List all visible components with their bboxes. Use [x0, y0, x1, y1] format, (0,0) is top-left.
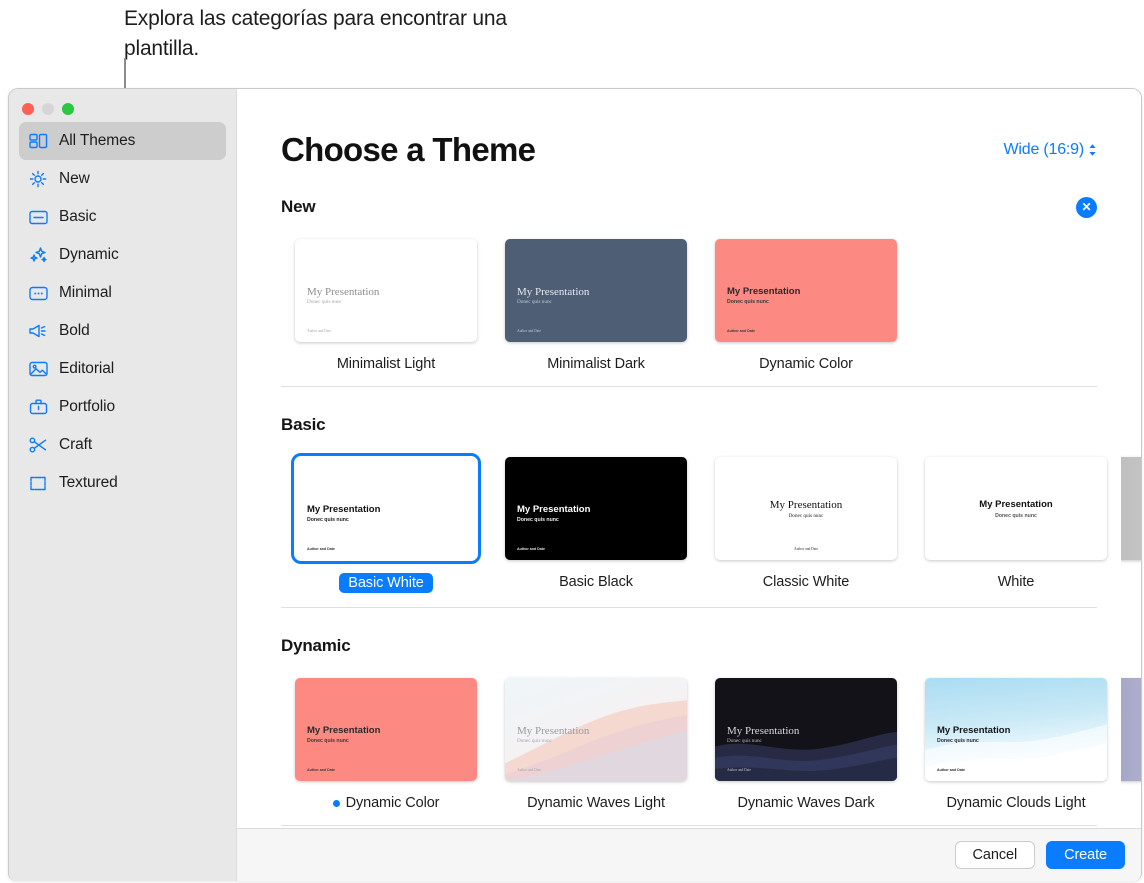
thumbnail-canvas: My PresentationDonec quis nunc	[925, 457, 1107, 560]
theme-tile[interactable]: My PresentationDonec quis nuncWhite	[911, 453, 1121, 593]
cancel-button[interactable]: Cancel	[955, 841, 1036, 869]
thumbnail-title: My Presentation	[517, 504, 590, 515]
thumbnail-canvas: My PresentationDonec quis nuncAuthor and…	[715, 239, 897, 342]
thumbnail-canvas: My PresentationDonec quis nuncAuthor and…	[715, 457, 897, 560]
zoom-window-button[interactable]	[62, 103, 74, 115]
theme-tile[interactable]: My PresentationDonec quis nuncAuthor and…	[701, 235, 911, 372]
page-title: Choose a Theme	[281, 131, 535, 169]
thumbnail-canvas: My PresentationDonec quis nuncAuthor and…	[505, 457, 687, 560]
thumbnail-footer: Author and Date	[715, 547, 897, 551]
section-header: Dynamic	[281, 624, 1097, 668]
thumbnail-footer: Author and Date	[517, 547, 545, 551]
theme-name-label: Dynamic Color	[759, 356, 853, 372]
theme-scroll-area[interactable]: Choose a Theme Wide (16:9) New✕My Presen…	[237, 89, 1141, 829]
theme-thumbnail[interactable]: My PresentationDonec quis nuncAuthor and…	[501, 453, 691, 564]
thumbnail-title: My Presentation	[937, 725, 1010, 736]
crop-frame-icon	[27, 473, 49, 493]
theme-grid: My PresentationDonec quis nuncAuthor and…	[281, 668, 1097, 811]
sidebar-item-label: New	[59, 170, 90, 188]
thumbnail-subtitle: Donec quis nunc	[517, 738, 552, 744]
thumbnail-subtitle: Donec quis nunc	[727, 299, 769, 305]
theme-thumbnail[interactable]: My PresentationDonec quis nuncAuthor and…	[711, 453, 901, 564]
sidebar-item-textured[interactable]: Textured	[19, 464, 226, 502]
sidebar-item-portfolio[interactable]: Portfolio	[19, 388, 226, 426]
theme-thumbnail[interactable]: My PresentationDonec quis nuncAuthor and…	[291, 453, 481, 564]
thumbnail-subtitle: Donec quis nunc	[727, 738, 762, 744]
thumbnail-canvas: My PresentationDonec quis nuncAuthor and…	[925, 678, 1107, 781]
theme-thumbnail[interactable]	[1121, 453, 1141, 564]
sidebar-category-list: All ThemesNewBasicDynamicMinimalBoldEdit…	[9, 122, 236, 502]
theme-name-text: Minimalist Light	[337, 356, 435, 372]
theme-thumbnail[interactable]: My PresentationDonec quis nuncAuthor and…	[501, 674, 691, 785]
theme-name-label: Dynamic Clouds Light	[946, 795, 1085, 811]
thumbnail-footer: Author and Date	[937, 768, 965, 772]
theme-name-label: Dynamic Waves Light	[527, 795, 665, 811]
thumbnail-title: My Presentation	[715, 499, 897, 511]
scissors-icon	[27, 435, 49, 455]
theme-grid: My PresentationDonec quis nuncAuthor and…	[281, 229, 1097, 372]
sidebar-item-label: Portfolio	[59, 398, 115, 416]
thumbnail-title: My Presentation	[517, 725, 589, 737]
theme-name-label: Minimalist Dark	[547, 356, 645, 372]
sidebar-item-label: All Themes	[59, 132, 135, 150]
theme-grid: My PresentationDonec quis nuncAuthor and…	[281, 447, 1097, 593]
sidebar-item-new[interactable]: New	[19, 160, 226, 198]
create-button[interactable]: Create	[1046, 841, 1125, 869]
sidebar-item-label: Dynamic	[59, 246, 119, 264]
close-section-icon[interactable]: ✕	[1076, 197, 1097, 218]
theme-tile[interactable]: My PresentationDonec quis nuncAuthor and…	[281, 674, 491, 811]
theme-thumbnail[interactable]: My PresentationDonec quis nuncAuthor and…	[711, 235, 901, 346]
thumbnail-canvas	[1121, 678, 1141, 781]
theme-thumbnail[interactable]: My PresentationDonec quis nuncAuthor and…	[711, 674, 901, 785]
thumbnail-subtitle: Donec quis nunc	[517, 299, 552, 305]
callout-text: Explora las categorías para encontrar un…	[124, 4, 544, 64]
grid-themes-icon	[27, 131, 49, 151]
theme-name-label: Basic White	[339, 573, 432, 593]
sidebar-item-editorial[interactable]: Editorial	[19, 350, 226, 388]
theme-tile-partial[interactable]	[1121, 674, 1141, 811]
theme-name-label: Minimalist Light	[337, 356, 435, 372]
section-divider	[281, 386, 1097, 387]
aspect-ratio-label: Wide (16:9)	[1004, 141, 1085, 159]
thumbnail-footer: Author and Date	[307, 768, 335, 772]
thumbnail-footer: Author and Date	[727, 768, 751, 772]
section-divider	[281, 607, 1097, 608]
sidebar-item-label: Basic	[59, 208, 96, 226]
sparkle-burst-icon	[27, 169, 49, 189]
thumbnail-title: My Presentation	[517, 286, 589, 298]
sidebar-item-label: Minimal	[59, 284, 112, 302]
aspect-ratio-popup-button[interactable]: Wide (16:9)	[1004, 141, 1098, 159]
main-content: Choose a Theme Wide (16:9) New✕My Presen…	[237, 89, 1141, 881]
thumbnail-footer: Author and Date	[307, 329, 331, 333]
sidebar-item-basic[interactable]: Basic	[19, 198, 226, 236]
thumbnail-canvas: My PresentationDonec quis nuncAuthor and…	[505, 239, 687, 342]
thumbnail-subtitle: Donec quis nunc	[307, 299, 342, 305]
sidebar-item-label: Editorial	[59, 360, 114, 378]
theme-tile-partial[interactable]	[1121, 453, 1141, 593]
content-header: Choose a Theme Wide (16:9)	[237, 89, 1141, 169]
sidebar-item-label: Bold	[59, 322, 90, 340]
theme-sections: New✕My PresentationDonec quis nuncAuthor…	[237, 185, 1141, 829]
thumbnail-subtitle: Donec quis nunc	[715, 513, 897, 519]
dialog-footer: Cancel Create	[237, 828, 1141, 881]
theme-name-text: Minimalist Dark	[547, 356, 645, 372]
thumbnail-subtitle: Donec quis nunc	[307, 738, 349, 744]
theme-name-text: Dynamic Waves Light	[527, 795, 665, 811]
theme-name-label: Dynamic Waves Dark	[737, 795, 874, 811]
section-title: New	[281, 197, 315, 217]
thumbnail-title: My Presentation	[307, 286, 379, 298]
theme-name-text: Dynamic Color	[759, 356, 853, 372]
theme-thumbnail[interactable]: My PresentationDonec quis nuncAuthor and…	[291, 235, 481, 346]
theme-tile[interactable]: My PresentationDonec quis nuncAuthor and…	[701, 674, 911, 811]
theme-name-text: Classic White	[763, 574, 850, 590]
theme-name-text: White	[998, 574, 1035, 590]
window-traffic-lights	[22, 103, 74, 115]
theme-section-basic: BasicMy PresentationDonec quis nuncAutho…	[237, 403, 1141, 608]
sidebar-item-bold[interactable]: Bold	[19, 312, 226, 350]
theme-section-new: New✕My PresentationDonec quis nuncAuthor…	[237, 185, 1141, 387]
sidebar-item-craft[interactable]: Craft	[19, 426, 226, 464]
thumbnail-title: My Presentation	[925, 499, 1107, 510]
thumbnail-footer: Author and Date	[517, 768, 541, 772]
thumbnail-footer: Author and Date	[517, 329, 541, 333]
close-window-button[interactable]	[22, 103, 34, 115]
sidebar: All ThemesNewBasicDynamicMinimalBoldEdit…	[9, 89, 237, 881]
theme-tile[interactable]: My PresentationDonec quis nuncAuthor and…	[281, 453, 491, 593]
minimize-window-button[interactable]	[42, 103, 54, 115]
theme-tile[interactable]: My PresentationDonec quis nuncAuthor and…	[911, 674, 1121, 811]
thumbnail-canvas	[1121, 457, 1141, 560]
thumbnail-canvas: My PresentationDonec quis nuncAuthor and…	[295, 678, 477, 781]
sidebar-item-label: Craft	[59, 436, 92, 454]
thumbnail-canvas: My PresentationDonec quis nuncAuthor and…	[505, 678, 687, 781]
thumbnail-subtitle: Donec quis nunc	[925, 513, 1107, 519]
theme-name-text: Basic Black	[559, 574, 633, 590]
theme-section-dynamic: DynamicMy PresentationDonec quis nuncAut…	[237, 624, 1141, 826]
theme-tile[interactable]: My PresentationDonec quis nuncAuthor and…	[491, 235, 701, 372]
theme-name-text: Dynamic Clouds Light	[946, 795, 1085, 811]
thumbnail-subtitle: Donec quis nunc	[307, 517, 349, 523]
megaphone-icon	[27, 321, 49, 341]
chevron-updown-icon	[1088, 143, 1097, 159]
theme-thumbnail[interactable]: My PresentationDonec quis nunc	[921, 453, 1111, 564]
thumbnail-footer: Author and Date	[727, 329, 755, 333]
theme-thumbnail[interactable]: My PresentationDonec quis nuncAuthor and…	[291, 674, 481, 785]
theme-name-label: Basic Black	[559, 574, 633, 590]
section-divider	[281, 825, 1097, 826]
dots-box-icon	[27, 283, 49, 303]
theme-tile[interactable]: My PresentationDonec quis nuncAuthor and…	[701, 453, 911, 593]
section-title: Basic	[281, 415, 325, 435]
thumbnail-canvas: My PresentationDonec quis nuncAuthor and…	[295, 239, 477, 342]
thumbnail-title: My Presentation	[727, 286, 800, 297]
section-title: Dynamic	[281, 636, 350, 656]
theme-thumbnail[interactable]: My PresentationDonec quis nuncAuthor and…	[501, 235, 691, 346]
theme-chooser-window: All ThemesNewBasicDynamicMinimalBoldEdit…	[8, 88, 1142, 881]
sidebar-item-minimal[interactable]: Minimal	[19, 274, 226, 312]
thumbnail-subtitle: Donec quis nunc	[937, 738, 979, 744]
thumbnail-title: My Presentation	[307, 504, 380, 515]
sparkles-icon	[27, 245, 49, 265]
thumbnail-title: My Presentation	[307, 725, 380, 736]
thumbnail-canvas: My PresentationDonec quis nuncAuthor and…	[295, 457, 477, 560]
sidebar-item-label: Textured	[59, 474, 118, 492]
theme-name-label: White	[998, 574, 1035, 590]
theme-name-label: Classic White	[763, 574, 850, 590]
current-theme-dot-icon	[333, 800, 340, 807]
theme-name-label: Dynamic Color	[333, 795, 440, 811]
thumbnail-canvas: My PresentationDonec quis nuncAuthor and…	[715, 678, 897, 781]
briefcase-icon	[27, 397, 49, 417]
text-box-icon	[27, 207, 49, 227]
section-header: New✕	[281, 185, 1097, 229]
thumbnail-title: My Presentation	[727, 725, 799, 737]
theme-name-text: Basic White	[348, 575, 423, 591]
theme-thumbnail[interactable]: My PresentationDonec quis nuncAuthor and…	[921, 674, 1111, 785]
theme-name-text: Dynamic Waves Dark	[737, 795, 874, 811]
photo-icon	[27, 359, 49, 379]
theme-thumbnail[interactable]	[1121, 674, 1141, 785]
sidebar-item-all-themes[interactable]: All Themes	[19, 122, 226, 160]
thumbnail-subtitle: Donec quis nunc	[517, 517, 559, 523]
theme-tile[interactable]: My PresentationDonec quis nuncAuthor and…	[491, 453, 701, 593]
theme-tile[interactable]: My PresentationDonec quis nuncAuthor and…	[491, 674, 701, 811]
thumbnail-footer: Author and Date	[307, 547, 335, 551]
section-header: Basic	[281, 403, 1097, 447]
sidebar-item-dynamic[interactable]: Dynamic	[19, 236, 226, 274]
theme-name-text: Dynamic Color	[346, 795, 440, 811]
theme-tile[interactable]: My PresentationDonec quis nuncAuthor and…	[281, 235, 491, 372]
